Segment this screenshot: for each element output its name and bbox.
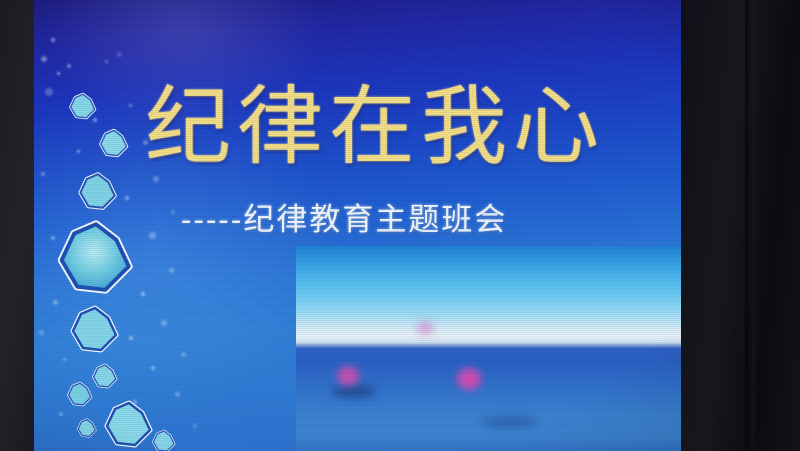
sparkle xyxy=(67,64,71,68)
sparkle xyxy=(193,424,197,428)
sparkle xyxy=(151,366,155,370)
sparkle xyxy=(77,150,80,153)
sparkle xyxy=(45,88,53,96)
star-icon xyxy=(78,171,118,211)
sparkle xyxy=(125,196,129,200)
slide-subtitle: -----纪律教育主题班会 xyxy=(181,203,507,237)
sparkle xyxy=(129,104,132,107)
sparkle xyxy=(51,236,55,240)
sparkle xyxy=(53,300,58,305)
sparkle xyxy=(161,320,167,326)
accent-blob xyxy=(337,366,359,386)
star-icon xyxy=(152,429,176,451)
accent-blob xyxy=(457,368,481,390)
accent-blob-shadow xyxy=(332,386,376,397)
sparkle xyxy=(117,52,122,57)
sparkle xyxy=(133,400,137,404)
star-icon xyxy=(104,399,154,449)
sparkle xyxy=(169,268,174,273)
star-icon xyxy=(99,128,129,158)
sparkle xyxy=(93,118,97,122)
sparkle xyxy=(39,330,44,335)
right-bezel xyxy=(681,0,800,451)
sparkle xyxy=(175,392,180,397)
star-icon xyxy=(70,304,120,354)
sparkle xyxy=(41,172,45,176)
sparkle xyxy=(51,38,55,42)
sparkle xyxy=(59,412,63,416)
sparkle xyxy=(141,292,145,296)
star-icon xyxy=(57,218,135,296)
projector-photo-frame: 纪律在我心 -----纪律教育主题班会 xyxy=(0,0,800,451)
star-icon xyxy=(69,92,97,120)
left-bezel xyxy=(0,0,34,451)
accent-blob xyxy=(416,321,434,335)
sparkle xyxy=(57,72,60,75)
accent-blob-shadow xyxy=(481,416,539,428)
sparkle xyxy=(149,232,156,239)
slide-title: 纪律在我心 xyxy=(145,84,682,170)
presentation-slide[interactable]: 纪律在我心 -----纪律教育主题班会 xyxy=(33,0,682,451)
sparkle xyxy=(41,56,47,62)
sparkle xyxy=(129,336,133,340)
star-icon xyxy=(67,381,93,407)
sparkle xyxy=(181,352,186,357)
sparkle xyxy=(105,60,108,63)
sparkle xyxy=(63,358,66,361)
sparkle xyxy=(171,210,175,214)
star-icon xyxy=(92,363,118,389)
sea-horizon-photo[interactable] xyxy=(296,246,682,451)
star-icon xyxy=(77,418,97,438)
